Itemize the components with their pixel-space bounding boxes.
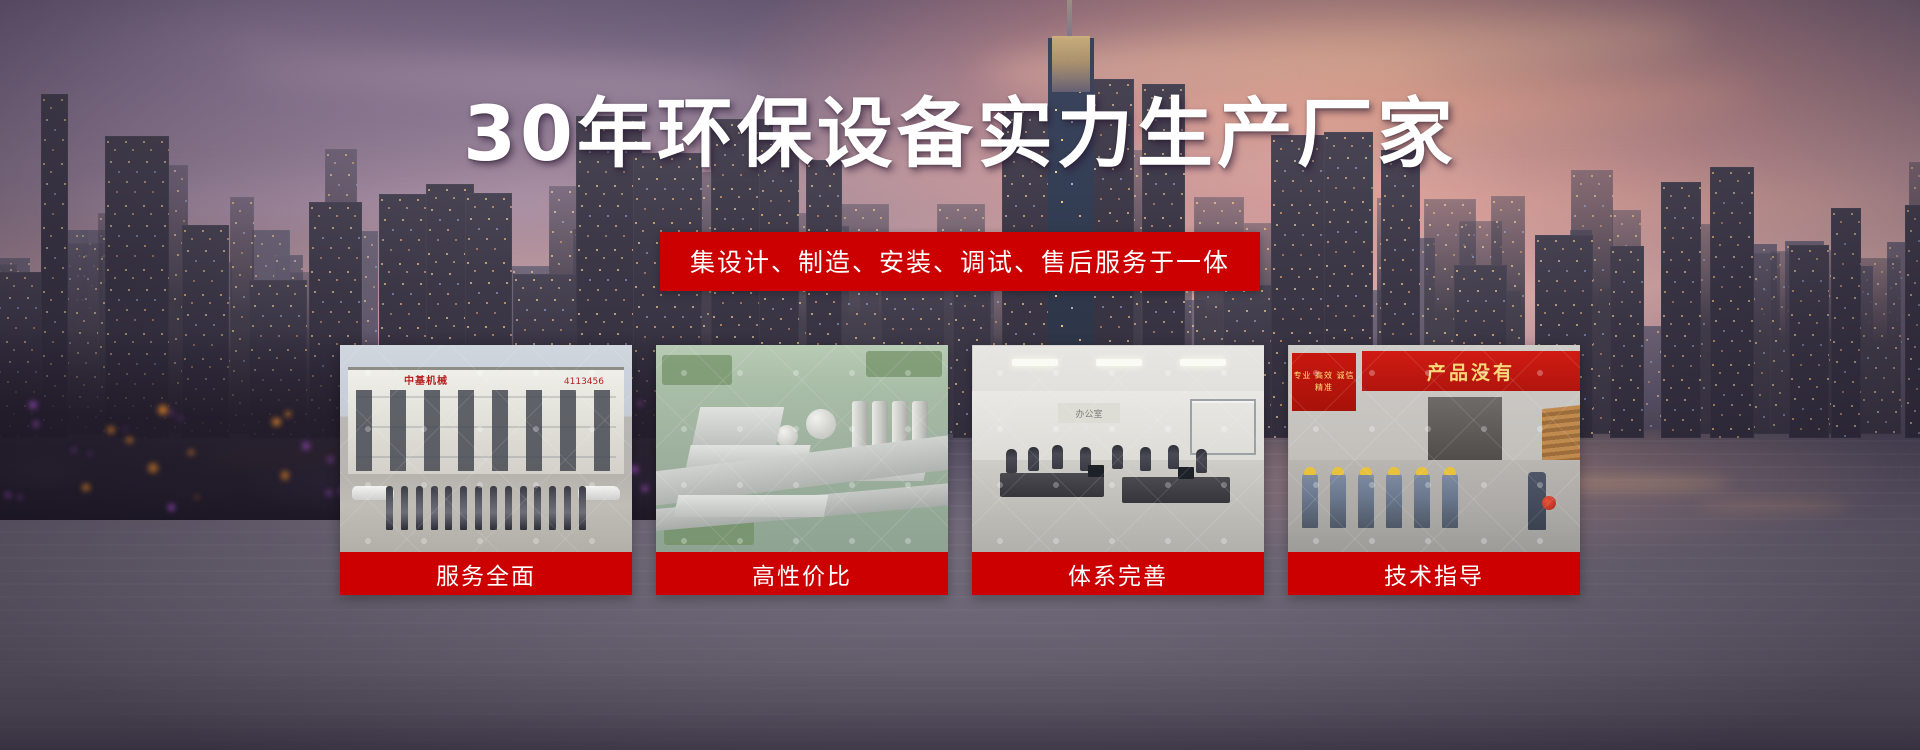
office-person	[1006, 449, 1017, 473]
hardhat-icon	[1332, 467, 1344, 475]
ceiling-light	[1012, 359, 1058, 366]
building-windows	[356, 390, 616, 471]
feature-card[interactable]: 专业 高效 诚信 精准 产品没有 技术指导	[1288, 345, 1580, 595]
banner-content: 30年环保设备实力生产厂家 集设计、制造、安装、调试、售后服务于一体 中基机械 …	[0, 0, 1920, 750]
card-label: 技术指导	[1288, 552, 1580, 595]
staff-person	[505, 486, 512, 530]
office-building: 中基机械 4113456	[348, 367, 624, 477]
monitor	[1178, 467, 1194, 479]
worker	[1442, 474, 1458, 528]
office-person	[1140, 447, 1151, 471]
staff-person	[460, 486, 467, 530]
feature-card[interactable]: 办公室 体系完	[972, 345, 1264, 595]
staff-person	[475, 486, 482, 530]
hardhat-icon	[1388, 467, 1400, 475]
staff-person	[416, 486, 423, 530]
red-drum	[1542, 496, 1556, 510]
office-desk	[1122, 477, 1230, 503]
phone-number-text: 4113456	[564, 376, 604, 388]
card-photo-company-headquarters-staff-photo: 中基机械 4113456	[340, 345, 632, 552]
page-title: 30年环保设备实力生产厂家	[0, 96, 1920, 172]
staff-person	[549, 486, 556, 530]
hardhat-icon	[1304, 467, 1316, 475]
office-person	[1112, 445, 1123, 469]
hardhat-icon	[1360, 467, 1372, 475]
factory-shed	[674, 495, 829, 517]
slogan-side-banner: 专业 高效 诚信 精准	[1292, 353, 1356, 411]
worker	[1358, 474, 1374, 528]
subtitle-text: 集设计、制造、安装、调试、售后服务于一体	[690, 248, 1230, 277]
staff-person	[564, 486, 571, 530]
worker	[1302, 474, 1318, 528]
office-person	[1168, 445, 1179, 469]
office-person	[1028, 447, 1039, 471]
card-label: 体系完善	[972, 552, 1264, 595]
ceiling	[972, 345, 1264, 391]
card-label: 服务全面	[340, 552, 632, 595]
ceiling-light	[1180, 359, 1226, 366]
worker	[1386, 474, 1402, 528]
feature-card[interactable]: 中基机械 4113456	[340, 345, 632, 595]
monitor	[1088, 465, 1104, 477]
hardhat-icon	[1444, 467, 1456, 475]
staff-person	[520, 486, 527, 530]
hero-banner: 30年环保设备实力生产厂家 集设计、制造、安装、调试、售后服务于一体 中基机械 …	[0, 0, 1920, 750]
wall-sign: 办公室	[1058, 403, 1120, 423]
factory-shed	[692, 407, 785, 447]
card-photo-office-team-meeting-photo: 办公室	[972, 345, 1264, 552]
greenery-patch	[662, 355, 732, 385]
company-sign-text: 中基机械	[404, 376, 524, 388]
staff-person	[431, 486, 438, 530]
process-tank	[806, 409, 836, 439]
office-person	[1052, 445, 1063, 469]
office-window	[1190, 399, 1256, 455]
worker	[1414, 474, 1430, 528]
staff-lineup	[386, 486, 586, 530]
workshop-red-banner: 产品没有	[1362, 351, 1580, 391]
stacked-material	[1542, 405, 1580, 465]
worker	[1330, 474, 1346, 528]
feature-card-list: 中基机械 4113456	[340, 345, 1580, 595]
staff-person	[579, 486, 586, 530]
feature-card[interactable]: 高性价比	[656, 345, 948, 595]
card-photo-aerial-factory-plant-photo	[656, 345, 948, 552]
ceiling-light	[1096, 359, 1142, 366]
office-person	[1196, 449, 1207, 473]
staff-person	[445, 486, 452, 530]
staff-person	[534, 486, 541, 530]
staff-person	[386, 486, 393, 530]
card-label: 高性价比	[656, 552, 948, 595]
greenery-patch	[866, 351, 942, 377]
staff-person	[401, 486, 408, 530]
card-photo-workshop-workers-training-photo: 专业 高效 诚信 精准 产品没有	[1288, 345, 1580, 552]
hardhat-icon	[1416, 467, 1428, 475]
staff-person	[490, 486, 497, 530]
subtitle-badge: 集设计、制造、安装、调试、售后服务于一体	[660, 232, 1260, 291]
